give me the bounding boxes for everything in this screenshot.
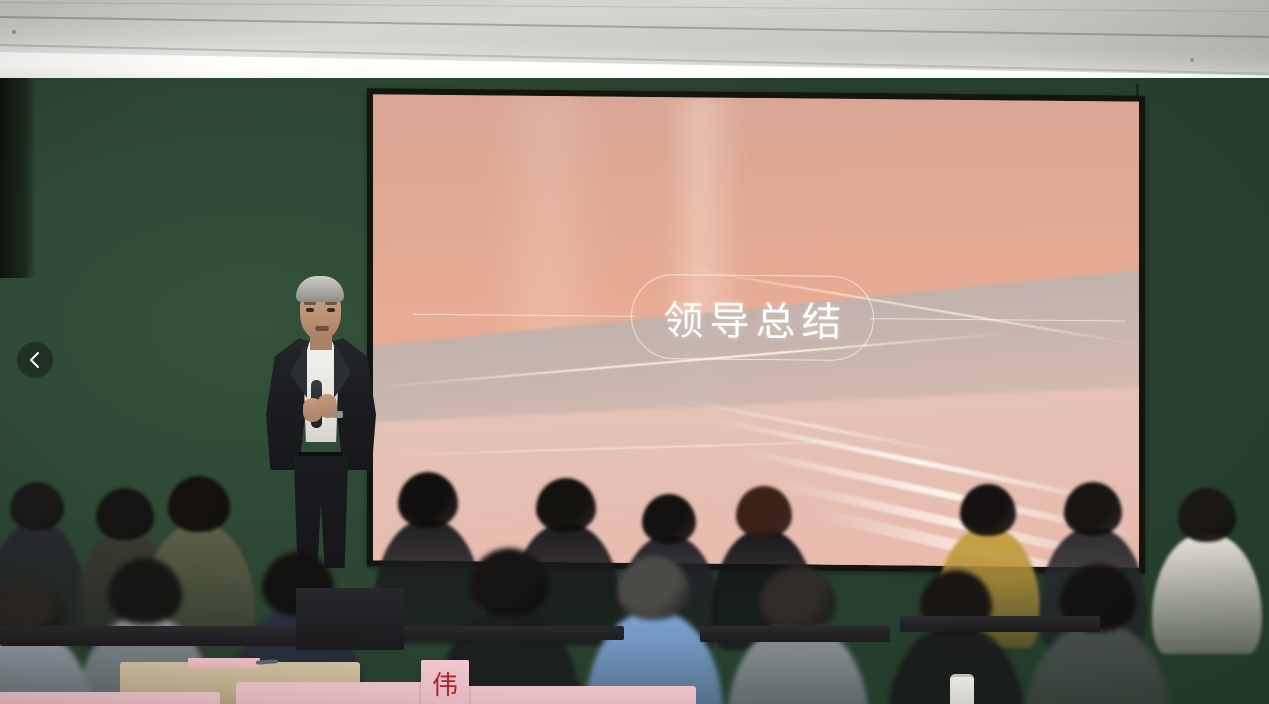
attendee-head bbox=[642, 494, 696, 544]
thermos-bottle bbox=[950, 674, 974, 704]
speaker-eyebrow bbox=[325, 302, 337, 305]
name-placard: 伟 bbox=[421, 660, 469, 704]
speaker-hair bbox=[296, 276, 344, 302]
attendee-head bbox=[536, 478, 596, 532]
desk-edge bbox=[700, 626, 890, 642]
slide-title: 领导总结 bbox=[631, 274, 874, 361]
desk-edge bbox=[900, 616, 1100, 632]
ceiling-seam bbox=[0, 16, 1269, 38]
desk-edge bbox=[0, 626, 300, 646]
laptop bbox=[296, 588, 404, 650]
conference-room-scene: 领导总结 bbox=[0, 0, 1269, 704]
speaker-eye bbox=[306, 308, 314, 312]
attendee-torso bbox=[1152, 534, 1262, 654]
speaker-eyebrow bbox=[304, 302, 316, 305]
speaker-mouth bbox=[315, 326, 329, 331]
name-placard-text: 伟 bbox=[432, 673, 458, 699]
attendee-head bbox=[1064, 482, 1122, 536]
pink-desk bbox=[446, 686, 696, 704]
ceiling-fastener bbox=[12, 30, 16, 34]
ceiling-seam bbox=[0, 2, 1269, 12]
attendee-head bbox=[96, 488, 154, 540]
ceiling-fastener bbox=[1190, 58, 1194, 62]
attendee-head bbox=[960, 484, 1016, 536]
attendee-head bbox=[736, 486, 792, 538]
audience: 伟 bbox=[0, 430, 1269, 704]
wall-left-shadow bbox=[0, 78, 36, 278]
attendee-head bbox=[1178, 488, 1236, 542]
attendee-head bbox=[168, 476, 230, 532]
chevron-left-icon bbox=[28, 350, 42, 370]
previous-image-button[interactable] bbox=[17, 342, 53, 378]
speaker-eye bbox=[327, 308, 335, 312]
attendee-head bbox=[398, 472, 458, 528]
attendee-head bbox=[760, 566, 836, 632]
slide-title-rule-left bbox=[413, 314, 635, 317]
speaker-wristwatch bbox=[331, 411, 343, 418]
attendee-head bbox=[10, 482, 64, 530]
pink-desk bbox=[236, 682, 436, 704]
pink-desk bbox=[0, 692, 220, 704]
pink-paper bbox=[188, 658, 260, 668]
slide-title-rule-right bbox=[870, 318, 1125, 321]
desk-edge bbox=[404, 626, 624, 640]
